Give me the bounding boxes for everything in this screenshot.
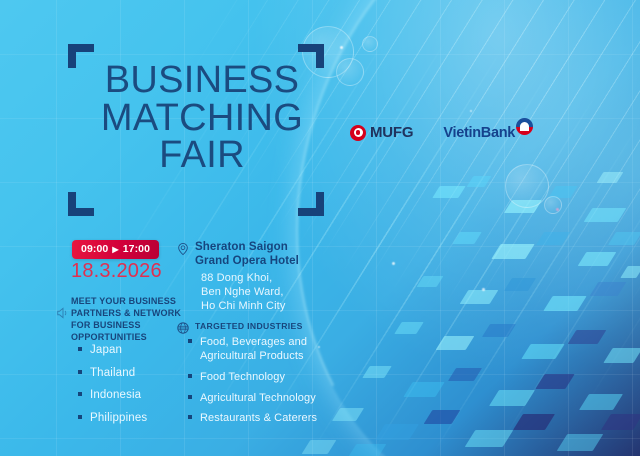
participating-countries-list: Japan Thailand Indonesia Philippines <box>78 345 147 435</box>
list-item: Thailand <box>78 368 147 380</box>
sparkle-dot <box>392 262 395 265</box>
event-time-badge: 09:00 ▶ 17:00 <box>72 240 159 259</box>
logo-vietinbank: VietinBank <box>443 125 533 141</box>
venue-address-line-2: Ben Nghe Ward, <box>201 286 284 298</box>
mufg-mark-icon <box>350 125 366 141</box>
event-tagline: MEET YOUR BUSINESS PARTNERS & NETWORK FO… <box>71 295 183 343</box>
logo-mufg: MUFG <box>350 124 413 141</box>
poster-canvas: BUSINESS MATCHING FAIR MUFG VietinBank 0… <box>0 0 640 456</box>
arrow-right-icon: ▶ <box>111 245 119 254</box>
sparkle-dot <box>482 288 485 291</box>
list-item: Japan <box>78 345 147 357</box>
sparkle-dot <box>340 46 343 49</box>
list-item: Philippines <box>78 413 147 425</box>
industries-block: TARGETED INDUSTRIES Food, Beverages and … <box>176 321 348 433</box>
event-date: 18.3.2026 <box>71 260 162 283</box>
poster-headline: BUSINESS MATCHING FAIR <box>84 62 320 175</box>
list-item: Food, Beverages and Agricultural Product… <box>188 336 348 364</box>
venue-name: Sheraton Saigon Grand Opera Hotel <box>195 240 299 269</box>
sparkle-dot-pink <box>556 208 559 211</box>
mufg-wordmark: MUFG <box>370 124 413 141</box>
location-pin-icon <box>176 242 190 256</box>
list-item: Agricultural Technology <box>188 392 348 406</box>
venue-address-line-1: 88 Dong Khoi, <box>201 272 272 284</box>
vietinbank-mark-icon <box>516 118 533 135</box>
lens-flare-right-small <box>544 196 562 214</box>
time-end: 17:00 <box>123 243 150 255</box>
headline-line-2: MATCHING <box>84 100 320 138</box>
globe-icon <box>176 321 190 335</box>
headline-line-3: FAIR <box>84 137 320 175</box>
time-start: 09:00 <box>81 243 108 255</box>
lens-flare-small <box>362 36 378 52</box>
lens-flare-right <box>505 164 549 208</box>
vietinbank-wordmark: VietinBank <box>443 125 515 141</box>
frame-bracket-bottom-left <box>68 190 96 216</box>
venue-name-line-1: Sheraton Saigon <box>195 241 288 253</box>
headline-line-1: BUSINESS <box>84 62 320 100</box>
sponsor-logos: MUFG VietinBank <box>350 124 533 141</box>
list-item: Indonesia <box>78 390 147 402</box>
list-item: Food Technology <box>188 371 348 385</box>
sparkle-dot <box>470 110 472 112</box>
venue-name-line-2: Grand Opera Hotel <box>195 255 299 267</box>
industries-heading: TARGETED INDUSTRIES <box>195 321 348 331</box>
lens-flare-medium <box>336 58 364 86</box>
venue-address-line-3: Ho Chi Minh City <box>201 300 285 312</box>
speaker-icon <box>56 306 70 320</box>
list-item: Restaurants & Caterers <box>188 412 348 426</box>
frame-bracket-bottom-right <box>296 190 324 216</box>
industries-list: Food, Beverages and Agricultural Product… <box>188 336 348 426</box>
venue-address: 88 Dong Khoi, Ben Nghe Ward, Ho Chi Minh… <box>201 271 299 313</box>
venue-block: Sheraton Saigon Grand Opera Hotel 88 Don… <box>176 240 299 313</box>
